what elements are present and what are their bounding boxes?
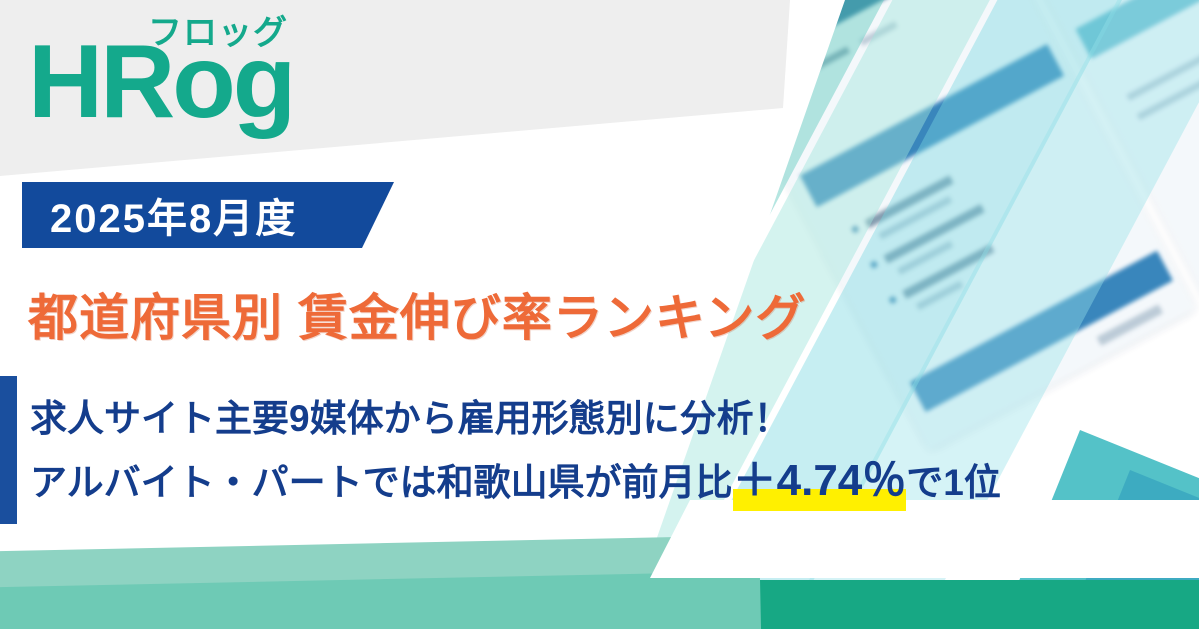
highlight-figure: ＋4.74％: [733, 450, 907, 514]
subtitle-line-2-suffix: で1位: [906, 462, 1001, 503]
subtitle-accent-bar: [0, 376, 17, 524]
hrog-logo[interactable]: フロッグ HRog: [28, 14, 293, 134]
date-badge: 2025年8月度: [22, 182, 394, 248]
logo-ruby-text: フロッグ: [148, 16, 288, 50]
subtitle-block: 求人サイト主要9媒体から雇用形態別に分析！ アルバイト・パートでは和歌山県が前月…: [30, 388, 1001, 514]
page-title: 都道府県別 賃金伸び率ランキング: [28, 278, 806, 350]
date-badge-label: 2025年8月度: [50, 186, 297, 244]
highlight-value: ＋4.74％: [733, 456, 907, 505]
subtitle-line-2: アルバイト・パートでは和歌山県が前月比＋4.74％で1位: [30, 450, 1001, 514]
hero-banner: フロッグ HRog 2025年8月度 都道府県別 賃金伸び率ランキング 求人サイ…: [0, 0, 1199, 629]
subtitle-line-2-prefix: アルバイト・パートでは和歌山県が前月比: [30, 462, 733, 503]
subtitle-line-1: 求人サイト主要9媒体から雇用形態別に分析！: [30, 388, 1001, 450]
